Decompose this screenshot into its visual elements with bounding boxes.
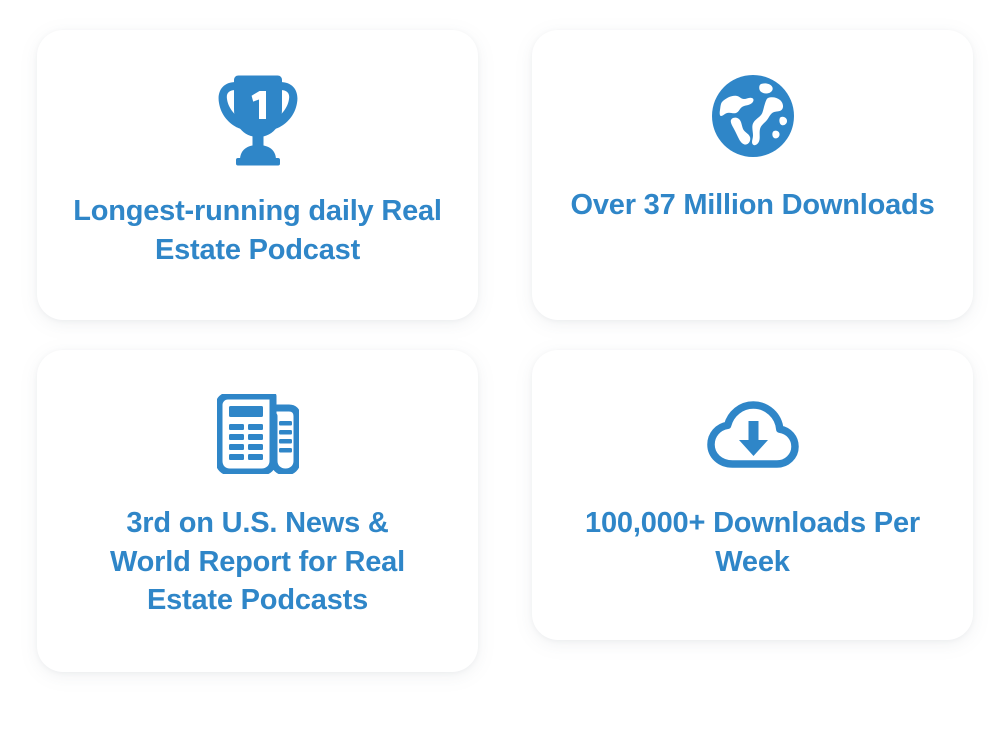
stat-card-title: 100,000+ Downloads Per Week xyxy=(573,504,933,581)
stat-card-weekly-downloads[interactable]: 100,000+ Downloads Per Week xyxy=(532,350,973,640)
stat-card-longest-running[interactable]: Longest-running daily Real Estate Podcas… xyxy=(37,30,478,320)
stat-card-downloads-total[interactable]: Over 37 Million Downloads xyxy=(532,30,973,320)
stats-card-grid: Longest-running daily Real Estate Podcas… xyxy=(0,0,997,730)
trophy-number-one-icon xyxy=(215,74,301,166)
cloud-download-icon xyxy=(707,400,799,470)
globe-icon xyxy=(711,74,795,158)
stat-card-title: Over 37 Million Downloads xyxy=(570,186,934,225)
newspaper-icon xyxy=(217,394,299,474)
stat-card-title: 3rd on U.S. News & World Report for Real… xyxy=(83,504,433,620)
stat-card-title: Longest-running daily Real Estate Podcas… xyxy=(73,192,443,269)
stat-card-us-news-ranking[interactable]: 3rd on U.S. News & World Report for Real… xyxy=(37,350,478,672)
